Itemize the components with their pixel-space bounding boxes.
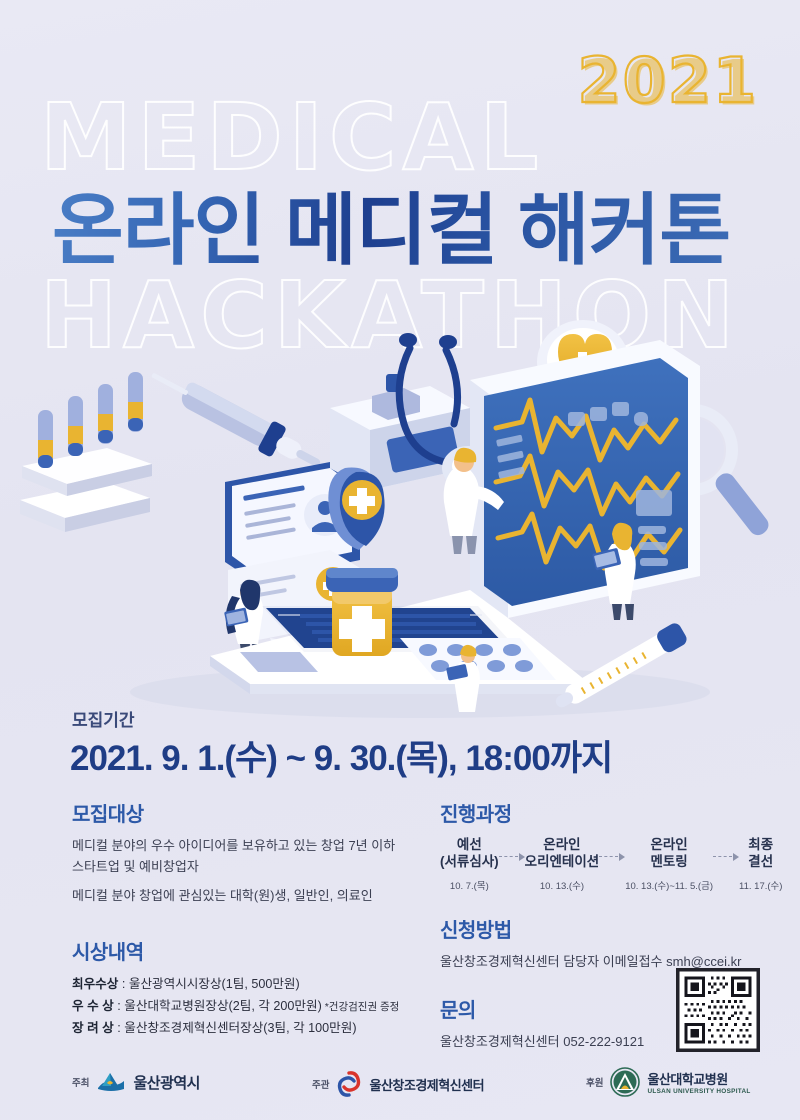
process-step: 예선(서류심사) 10. 7.(목)	[440, 836, 499, 892]
footer: 주최 울산광역시 주관 울산창조경제혁신센터 후원	[0, 1056, 800, 1120]
award-sep: :	[114, 1021, 125, 1035]
footer-host-name: 울산광역시	[133, 1072, 200, 1093]
process-step-date: 11. 17.(수)	[739, 878, 782, 892]
page-title: 온라인 메디컬 해커톤	[52, 168, 730, 280]
footer-organizer-role: 주관	[312, 1077, 329, 1091]
eligibility-line3: 메디컬 분야 창업에 관심있는 대학(원)생, 일반인, 의료인	[72, 886, 422, 907]
ccei-logo-icon	[336, 1071, 362, 1097]
award-note: *건강검진권 증정	[322, 1001, 400, 1013]
process-heading: 진행과정	[440, 798, 760, 827]
footer-sponsor-name-kr: 울산대학교병원	[647, 1072, 727, 1087]
footer-sponsor: 후원 울산대학교병원 ULSAN UNIVERSITY HOSPITAL	[586, 1067, 751, 1097]
recruit-period-label: 모집기간	[72, 706, 135, 731]
arrow-right-icon	[599, 852, 625, 862]
eligibility-heading: 모집대상	[72, 798, 422, 827]
left-column: 모집대상 메디컬 분야의 우수 아이디어를 보유하고 있는 창업 7년 이하 스…	[72, 798, 422, 1039]
award-item: 우 수 상 : 울산대학교병원장상(2팀, 각 200만원) *건강검진권 증정	[72, 996, 422, 1018]
footer-sponsor-role: 후원	[586, 1075, 603, 1089]
poster-root: MEDICAL HACKATHON 2021 온라인 메디컬 해커톤	[0, 0, 800, 1120]
process-step-date: 10. 13.(수)~11. 5.(금)	[625, 878, 713, 892]
awards-list: 최우수상 : 울산광역시시장상(1팀, 500만원) 우 수 상 : 울산대학교…	[72, 974, 422, 1039]
award-sep: :	[114, 999, 125, 1013]
process-step-name-line1: 예선	[457, 837, 482, 852]
process-step: 최종결선 11. 17.(수)	[739, 836, 782, 892]
award-desc: 울산광역시시장상(1팀, 500만원)	[129, 977, 300, 991]
medicine-bottle-icon	[326, 568, 398, 656]
year-label: 2021	[577, 44, 758, 117]
process-step-name-line2: 결선	[748, 854, 773, 869]
arrow-right-icon	[499, 852, 525, 862]
recruit-period-value: 2021. 9. 1.(수) ~ 9. 30.(목), 18:00까지	[70, 730, 612, 781]
process-step-date: 10. 13.(수)	[525, 878, 600, 892]
award-name: 장 려 상	[72, 1021, 114, 1035]
award-item: 최우수상 : 울산광역시시장상(1팀, 500만원)	[72, 974, 422, 996]
process-step: 온라인오리엔테이션 10. 13.(수)	[525, 836, 600, 892]
medical-illustration	[0, 300, 800, 720]
eligibility-line2: 스타트업 및 예비창업자	[72, 859, 199, 874]
eligibility-line1: 메디컬 분야의 우수 아이디어를 보유하고 있는 창업 7년 이하	[72, 838, 395, 853]
footer-host: 주최 울산광역시	[72, 1070, 200, 1094]
process-step: 온라인멘토링 10. 13.(수)~11. 5.(금)	[625, 836, 713, 892]
syringe-icon	[144, 360, 328, 479]
eligibility-body: 메디컬 분야의 우수 아이디어를 보유하고 있는 창업 7년 이하 스타트업 및…	[72, 836, 422, 906]
process-step-name-line1: 온라인	[543, 837, 580, 852]
process-step-date: 10. 7.(목)	[440, 878, 499, 892]
footer-sponsor-name: 울산대학교병원 ULSAN UNIVERSITY HOSPITAL	[647, 1069, 750, 1095]
process-step-name-line2: 오리엔테이션	[525, 854, 600, 869]
award-item: 장 려 상 : 울산창조경제혁신센터장상(3팀, 각 100만원)	[72, 1018, 422, 1040]
award-name: 최우수상	[72, 977, 118, 991]
qr-code[interactable]	[676, 968, 760, 1052]
awards-heading: 시상내역	[72, 936, 422, 965]
footer-organizer: 주관 울산창조경제혁신센터	[312, 1071, 484, 1097]
process-timeline: 예선(서류심사) 10. 7.(목) 온라인오리엔테이션 10. 13.(수) …	[440, 836, 760, 892]
apply-heading: 신청방법	[440, 914, 760, 943]
spacer	[440, 892, 760, 914]
award-sep: :	[118, 977, 129, 991]
test-tubes-icon	[20, 372, 152, 532]
process-step-name-line2: (서류심사)	[440, 854, 499, 869]
award-name: 우 수 상	[72, 999, 114, 1013]
award-desc: 울산대학교병원장상(2팀, 각 200만원)	[124, 999, 322, 1013]
ulsan-city-logo-icon	[96, 1070, 126, 1094]
footer-organizer-name: 울산창조경제혁신센터	[369, 1075, 484, 1094]
footer-host-role: 주최	[72, 1075, 89, 1089]
process-step-name-line1: 최종	[748, 837, 773, 852]
arrow-right-icon	[713, 852, 739, 862]
process-step-name-line1: 온라인	[650, 837, 687, 852]
spacer	[72, 914, 422, 936]
footer-sponsor-name-en: ULSAN UNIVERSITY HOSPITAL	[647, 1088, 750, 1095]
award-desc: 울산창조경제혁신센터장상(3팀, 각 100만원)	[124, 1021, 356, 1035]
ulsan-hospital-logo-icon	[610, 1067, 640, 1097]
process-step-name-line2: 멘토링	[650, 854, 687, 869]
